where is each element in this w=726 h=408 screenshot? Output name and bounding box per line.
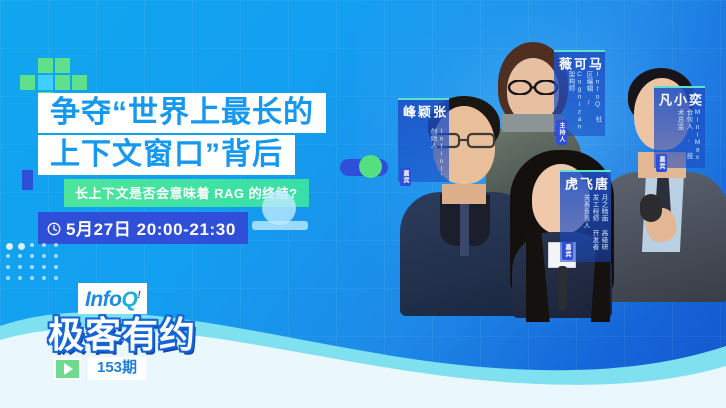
- episode-row: 153期: [54, 357, 218, 380]
- square-decoration: [22, 170, 33, 190]
- speaker-badge-makewei: 主持人: [556, 120, 567, 145]
- green-dot-decoration: [359, 155, 382, 178]
- speaker-name: 张颖峰: [401, 105, 446, 128]
- speaker-role: Infinity 创始人: [428, 128, 446, 175]
- speaker-name: 奕小凡: [657, 93, 702, 109]
- speaker-name: 唐飞虎: [563, 177, 608, 194]
- brand-logo-block: InfoQ! 极客有约 153期: [48, 283, 218, 373]
- program-name: 极客有约: [48, 315, 218, 355]
- page-title-line1: 争夺“世界上最长的: [38, 93, 326, 133]
- infoq-logo-info: Info: [85, 288, 121, 311]
- speaker-role: InfoQ 社区编辑 / Cognizant架构师: [566, 71, 602, 129]
- speaker-badge-zhangyingfeng: 嘉宾: [400, 168, 411, 186]
- speaker-role: MiniMax 合伙人 · 技术总监: [675, 109, 702, 161]
- play-icon[interactable]: [54, 358, 81, 380]
- speaker-badge-yixiaofan: 嘉宾: [656, 154, 667, 172]
- speaker-name: 马可薇: [557, 57, 602, 71]
- infoq-logo: InfoQ!: [78, 283, 147, 314]
- episode-number: 153期: [88, 357, 146, 380]
- infoq-logo-q: Q: [121, 288, 137, 311]
- webinar-poster: 争夺“世界上最长的 上下文窗口”背后 长上下文是否会意味着 RAG 的终结? 5…: [0, 0, 726, 408]
- infoq-logo-dot: !: [137, 290, 140, 301]
- page-title-line2: 上下文窗口”背后: [38, 135, 295, 175]
